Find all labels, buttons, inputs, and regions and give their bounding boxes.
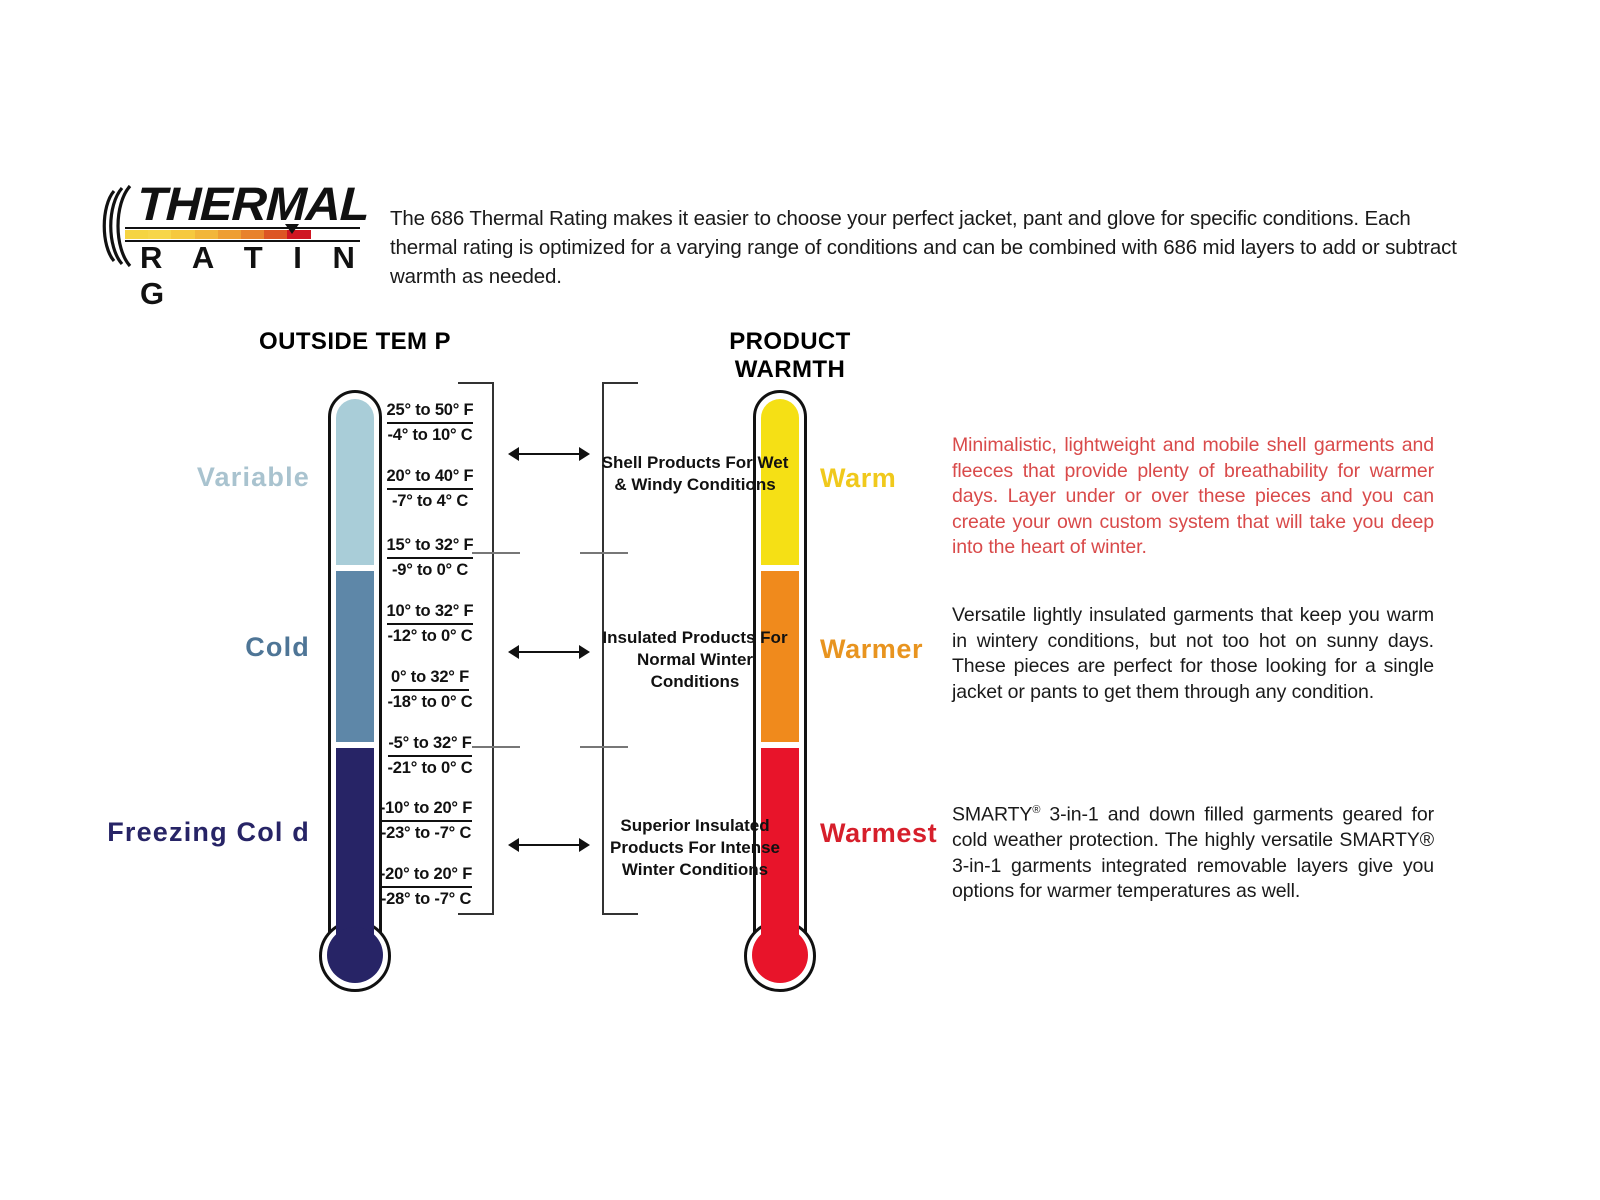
temp-range-8-f: -20° to 20° F — [380, 864, 472, 888]
temp-range-5-c: -18° to 0° C — [366, 691, 494, 713]
category-label-freezing-cold: Freezing Col d — [20, 817, 310, 848]
arrow-line — [516, 844, 582, 846]
temp-range-1-c: -4° to 10° C — [366, 424, 494, 446]
arrow-head-right-icon — [579, 447, 590, 461]
temp-range-7: -10° to 20° F -23° to -7° C — [362, 798, 490, 844]
logo-subtitle: R A T I N G — [140, 240, 368, 312]
temp-range-1-f: 25° to 50° F — [387, 400, 474, 424]
temp-range-2-f: 20° to 40° F — [387, 466, 474, 490]
description-paragraph-warmer: Versatile lightly insulated garments tha… — [952, 603, 1434, 705]
temp-range-2-c: -7° to 4° C — [366, 490, 494, 512]
description-paragraph-warm: Minimalistic, lightweight and mobile she… — [952, 433, 1434, 561]
left-bracket-top-cap — [458, 382, 494, 384]
temp-range-3: 15° to 32° F -9° to 0° C — [366, 535, 494, 581]
temp-range-5-f: 0° to 32° F — [391, 667, 469, 691]
temp-range-3-c: -9° to 0° C — [366, 559, 494, 581]
temp-range-7-c: -23° to -7° C — [362, 822, 490, 844]
connector-arrow-insulated — [508, 645, 590, 659]
temp-range-8: -20° to 20° F -28° to -7° C — [362, 864, 490, 910]
logo-bar-top-line — [125, 227, 360, 229]
bulb-fill-warmest — [752, 927, 808, 983]
category-label-cold: Cold — [20, 632, 310, 663]
temp-range-7-f: -10° to 20° F — [380, 798, 472, 822]
temp-range-6: -5° to 32° F -21° to 0° C — [366, 733, 494, 779]
thermal-waves-icon — [100, 182, 140, 270]
left-bracket — [492, 382, 494, 915]
temp-range-2: 20° to 40° F -7° to 4° C — [366, 466, 494, 512]
left-bracket-bottom-cap — [458, 913, 494, 915]
arrow-head-right-icon — [579, 838, 590, 852]
connector-arrow-superior — [508, 838, 590, 852]
description-paragraph-warmest: SMARTY® 3-in-1 and down filled garments … — [952, 798, 1434, 905]
right-bracket-tick-2 — [580, 746, 628, 748]
temp-range-6-f: -5° to 32° F — [388, 733, 471, 757]
temp-range-3-f: 15° to 32° F — [387, 535, 474, 559]
right-bracket-top-cap — [602, 382, 638, 384]
arrow-head-right-icon — [579, 645, 590, 659]
logo-pointer-icon — [285, 224, 299, 234]
temp-range-4-f: 10° to 32° F — [387, 601, 474, 625]
left-bracket-tick-2 — [472, 746, 520, 748]
arrow-line — [516, 651, 582, 653]
right-bracket-tick-1 — [580, 552, 628, 554]
connector-arrow-shell — [508, 447, 590, 461]
arrow-line — [516, 453, 582, 455]
temp-range-1: 25° to 50° F -4° to 10° C — [366, 400, 494, 446]
product-description-superior: Superior Insulated Products For Intense … — [600, 815, 790, 881]
logo-gradient-bar — [125, 230, 357, 239]
thermal-rating-logo: THERMAL R A T I N G — [100, 180, 368, 272]
bulb-fill-freezing — [327, 927, 383, 983]
temp-range-6-c: -21° to 0° C — [366, 757, 494, 779]
right-bracket-bottom-cap — [602, 913, 638, 915]
temp-range-5: 0° to 32° F -18° to 0° C — [366, 667, 494, 713]
product-warmth-header: PRODUCT WARMTH — [690, 328, 890, 384]
temp-range-4: 10° to 32° F -12° to 0° C — [366, 601, 494, 647]
category-label-variable: Variable — [20, 462, 310, 493]
temp-range-8-c: -28° to -7° C — [362, 888, 490, 910]
segment-cold — [336, 571, 374, 742]
left-bracket-tick-1 — [472, 552, 520, 554]
temp-range-4-c: -12° to 0° C — [366, 625, 494, 647]
product-description-insulated: Insulated Products For Normal Winter Con… — [600, 627, 790, 693]
product-description-shell: Shell Products For Wet & Windy Condition… — [600, 452, 790, 496]
outside-temp-header: OUTSIDE TEM P — [255, 328, 455, 356]
logo-title: THERMAL — [136, 180, 369, 228]
smarty-brand: SMARTY — [952, 804, 1032, 826]
intro-paragraph: The 686 Thermal Rating makes it easier t… — [390, 204, 1470, 291]
